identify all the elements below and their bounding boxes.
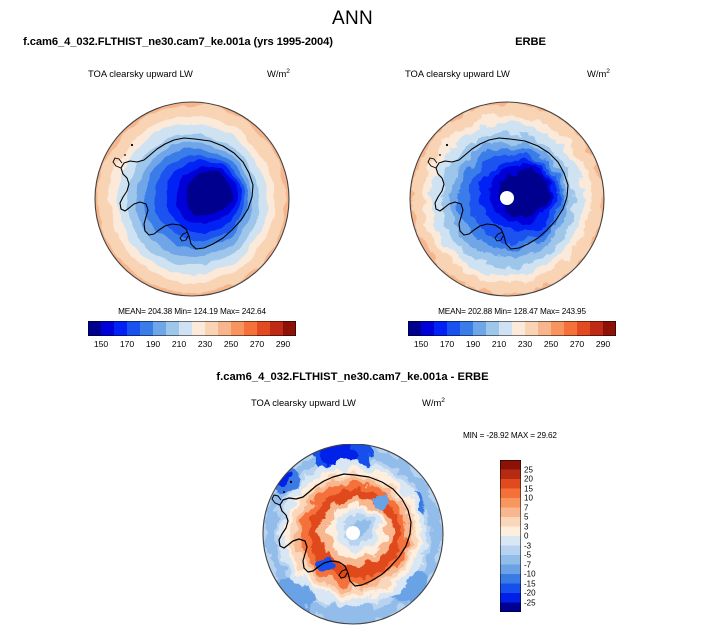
diff-tick-2: 15: [524, 484, 533, 493]
diff-tick-10: -7: [524, 560, 531, 569]
diff-pole-gap-marker: [346, 526, 360, 540]
diff-tick-9: -5: [524, 551, 531, 560]
diff-units-exponent: 2: [441, 397, 445, 404]
right-units-exponent: 2: [606, 68, 610, 75]
diff-map-svg: [255, 444, 451, 630]
right-polar-map: [407, 92, 611, 306]
diff-tick-5: 5: [524, 513, 528, 522]
left-tick-7: 290: [276, 339, 290, 349]
diff-stats-line: MIN = -28.92 MAX = 29.62: [463, 431, 557, 440]
right-pole-gap-marker: [500, 191, 514, 205]
left-colorbar-svg: [88, 321, 296, 336]
left-colorbar: [88, 321, 296, 336]
main-title: ANN: [0, 8, 705, 30]
left-panel-title: f.cam6_4_032.FLTHIST_ne30.cam7_ke.001a (…: [0, 36, 356, 48]
right-units-label: W/m2: [587, 68, 610, 79]
left-colorbar-bands: [88, 321, 296, 336]
right-tick-6: 270: [570, 339, 584, 349]
left-map-svg: [92, 92, 296, 306]
diff-tick-7: 0: [524, 532, 528, 541]
right-tick-5: 250: [544, 339, 558, 349]
right-colorbar-bands: [408, 321, 616, 336]
diff-tick-6: 3: [524, 522, 528, 531]
left-units-text: W/m: [267, 68, 286, 79]
left-tick-6: 270: [250, 339, 264, 349]
right-variable-label: TOA clearsky upward LW: [405, 68, 510, 79]
diff-tick-12: -15: [524, 579, 536, 588]
right-tick-0: 150: [414, 339, 428, 349]
right-tick-2: 190: [466, 339, 480, 349]
right-tick-3: 210: [492, 339, 506, 349]
diff-tick-4: 7: [524, 503, 528, 512]
diff-tick-11: -10: [524, 570, 536, 579]
diff-tick-14: -25: [524, 598, 536, 607]
diff-panel-title: f.cam6_4_032.FLTHIST_ne30.cam7_ke.001a -…: [0, 371, 705, 383]
right-stats-line: MEAN= 202.88 Min= 128.47 Max= 243.95: [408, 307, 616, 316]
right-colorbar-ticks: 150 170 190 210 230 250 270 290: [408, 339, 616, 351]
diff-variable-label: TOA clearsky upward LW: [251, 397, 356, 408]
left-tick-1: 170: [120, 339, 134, 349]
left-units-exponent: 2: [286, 68, 290, 75]
left-variable-label: TOA clearsky upward LW: [88, 68, 193, 79]
right-tick-7: 290: [596, 339, 610, 349]
left-colorbar-ticks: 150 170 190 210 230 250 270 290: [88, 339, 296, 351]
left-tick-5: 250: [224, 339, 238, 349]
left-tick-4: 230: [198, 339, 212, 349]
left-polar-map: [92, 92, 296, 306]
diff-units-label: W/m2: [422, 397, 445, 408]
diff-polar-map: [255, 444, 451, 630]
diff-units-text: W/m: [422, 397, 441, 408]
right-tick-4: 230: [518, 339, 532, 349]
left-tick-2: 190: [146, 339, 160, 349]
diff-tick-13: -20: [524, 589, 536, 598]
diff-tick-8: -3: [524, 541, 531, 550]
right-map-svg: [407, 92, 611, 306]
right-colorbar: [408, 321, 616, 336]
diff-tick-1: 20: [524, 475, 533, 484]
right-tick-1: 170: [440, 339, 454, 349]
right-units-text: W/m: [587, 68, 606, 79]
left-tick-0: 150: [94, 339, 108, 349]
left-stats-line: MEAN= 204.38 Min= 124.19 Max= 242.64: [88, 307, 296, 316]
diff-tick-0: 25: [524, 465, 533, 474]
right-panel-title: ERBE: [356, 36, 705, 48]
diff-colorbar-ticks: 25 20 15 10 7 5 3 0 -3 -5 -7 -10 -15 -20…: [500, 460, 560, 612]
left-units-label: W/m2: [267, 68, 290, 79]
left-tick-3: 210: [172, 339, 186, 349]
right-colorbar-svg: [408, 321, 616, 336]
diff-tick-3: 10: [524, 494, 533, 503]
